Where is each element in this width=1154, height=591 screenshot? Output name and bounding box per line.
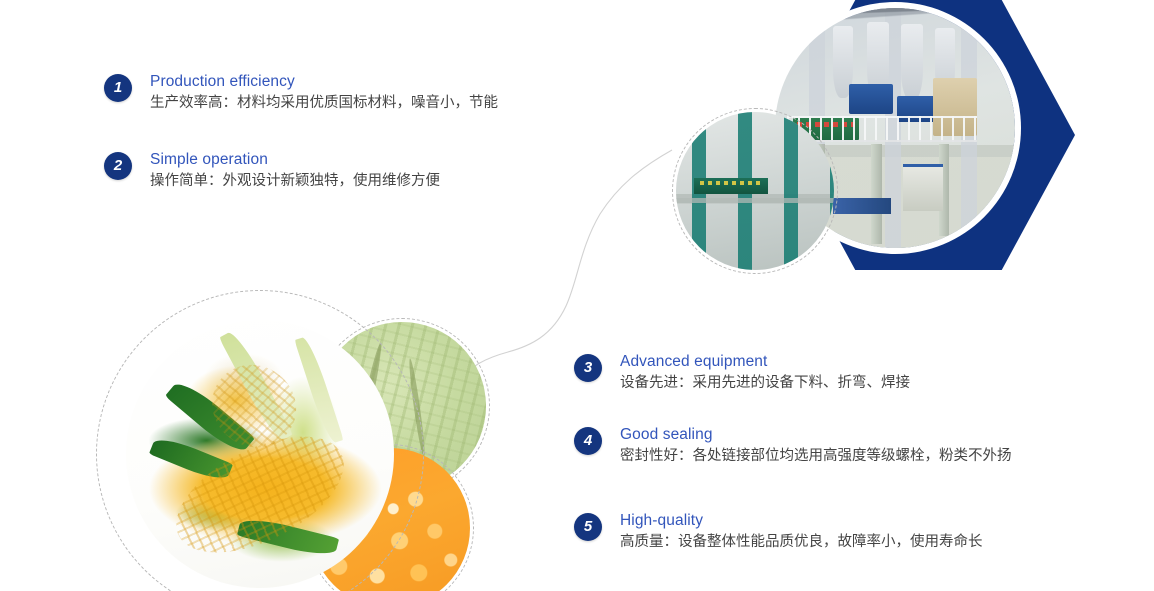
- feature-badge-4: 4: [574, 427, 602, 455]
- mill-conveyor: [833, 198, 891, 214]
- feature-text-3: Advanced equipment 设备先进：采用先进的设备下料、折弯、焊接: [620, 352, 910, 393]
- feature-badge-1: 1: [104, 74, 132, 102]
- feature-badge-5: 5: [574, 513, 602, 541]
- mill-vessel: [901, 24, 923, 100]
- feature-description-2: 操作简单：外观设计新颖独特，使用维修方便: [150, 171, 440, 191]
- feature-item-4[interactable]: 4 Good sealing 密封性好：各处链接部位均选用高强度等级螺栓，粉类不…: [574, 425, 1012, 466]
- feature-text-2: Simple operation 操作简单：外观设计新颖独特，使用维修方便: [150, 150, 440, 191]
- feature-title-2: Simple operation: [150, 150, 440, 169]
- feature-badge-3: 3: [574, 354, 602, 382]
- feature-title-5: High-quality: [620, 511, 983, 530]
- feature-description-3: 设备先进：采用先进的设备下料、折弯、焊接: [620, 373, 910, 393]
- feature-item-1[interactable]: 1 Production efficiency 生产效率高：材料均采用优质国标材…: [104, 72, 498, 113]
- feature-highlights-panel: 1 Production efficiency 生产效率高：材料均采用优质国标材…: [0, 0, 1154, 591]
- mill-blue-machine: [849, 84, 893, 114]
- feature-description-1: 生产效率高：材料均采用优质国标材料，噪音小，节能: [150, 93, 498, 113]
- teal-photo-dashed-ring: [672, 108, 838, 274]
- feature-item-2[interactable]: 2 Simple operation 操作简单：外观设计新颖独特，使用维修方便: [104, 150, 440, 191]
- feature-description-5: 高质量：设备整体性能品质优良，故障率小，使用寿命长: [620, 532, 983, 552]
- feature-item-3[interactable]: 3 Advanced equipment 设备先进：采用先进的设备下料、折弯、焊…: [574, 352, 910, 393]
- feature-badge-2: 2: [104, 152, 132, 180]
- mill-control-cabinet: [903, 164, 943, 211]
- feature-title-3: Advanced equipment: [620, 352, 910, 371]
- feature-title-4: Good sealing: [620, 425, 1012, 444]
- feature-item-5[interactable]: 5 High-quality 高质量：设备整体性能品质优良，故障率小，使用寿命长: [574, 511, 983, 552]
- feature-text-1: Production efficiency 生产效率高：材料均采用优质国标材料，…: [150, 72, 498, 113]
- feature-title-1: Production efficiency: [150, 72, 498, 91]
- feature-text-5: High-quality 高质量：设备整体性能品质优良，故障率小，使用寿命长: [620, 511, 983, 552]
- feature-text-4: Good sealing 密封性好：各处链接部位均选用高强度等级螺栓，粉类不外扬: [620, 425, 1012, 466]
- feature-description-4: 密封性好：各处链接部位均选用高强度等级螺栓，粉类不外扬: [620, 446, 1012, 466]
- mill-support-column: [871, 144, 882, 244]
